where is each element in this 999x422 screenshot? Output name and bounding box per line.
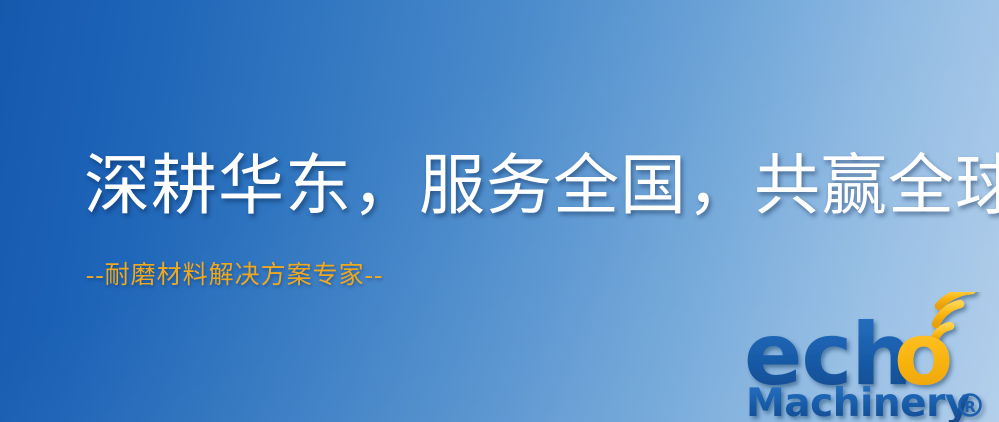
- promo-banner: 深耕华东，服务全国，共赢全球 --耐磨材料解决方案专家--: [0, 0, 999, 422]
- banner-headline: 深耕华东，服务全国，共赢全球: [84, 152, 999, 221]
- svg-text:R: R: [964, 398, 976, 416]
- echo-machinery-logo: ech o Machinery R: [742, 292, 994, 422]
- logo-text-machinery: Machinery: [746, 381, 970, 422]
- banner-subtitle: --耐磨材料解决方案专家--: [86, 262, 383, 290]
